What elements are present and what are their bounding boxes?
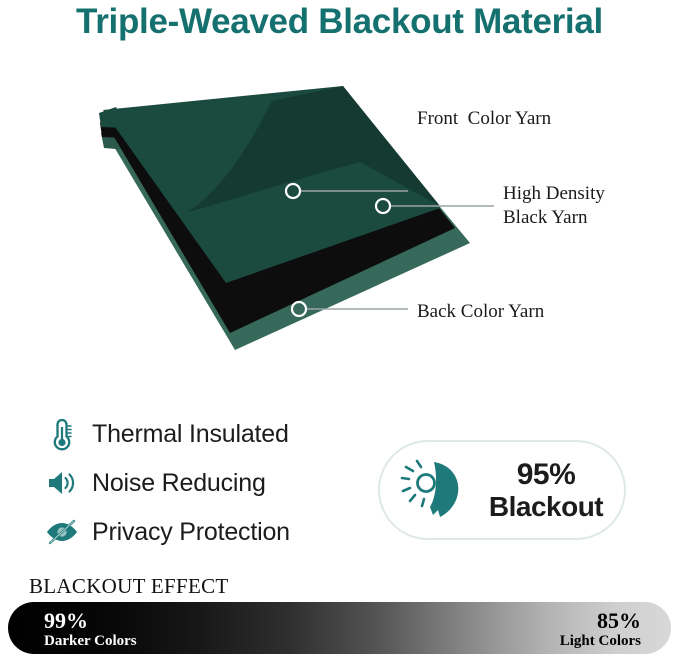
blackout-percent: 95% — [517, 458, 576, 491]
feature-item-thermal-insulated: Thermal Insulated — [44, 412, 374, 456]
speaker-sound-icon — [44, 465, 80, 501]
blackout-effect-heading: BLACKOUT EFFECT — [29, 574, 229, 599]
blackout-word: Blackout — [489, 491, 603, 522]
thermometer-icon — [44, 416, 80, 452]
light-colors-percent: 85% — [560, 609, 641, 633]
blackout-effect-gradient-bar: 99% Darker Colors 85% Light Colors — [8, 602, 671, 654]
light-colors-caption: Light Colors — [560, 633, 641, 649]
darker-colors-percent: 99% — [44, 609, 137, 633]
feature-list: Thermal Insulated Noise Reducing Privacy… — [44, 412, 374, 559]
darker-colors-caption: Darker Colors — [44, 633, 137, 649]
sun-blocked-by-curtain-icon — [398, 455, 476, 525]
blackout-badge-text: 95% Blackout — [476, 458, 624, 523]
feature-label-noise-reducing: Noise Reducing — [92, 469, 266, 498]
feature-item-privacy-protection: Privacy Protection — [44, 510, 374, 554]
feature-label-thermal-insulated: Thermal Insulated — [92, 420, 289, 449]
eye-slash-icon — [44, 514, 80, 550]
gradient-bar-right-stat: 85% Light Colors — [560, 609, 641, 649]
feature-label-privacy-protection: Privacy Protection — [92, 518, 290, 547]
gradient-bar-left-stat: 99% Darker Colors — [44, 609, 137, 649]
page-title: Triple-Weaved Blackout Material — [0, 2, 679, 42]
callout-label-back-color-yarn: Back Color Yarn — [417, 300, 544, 324]
blackout-badge: 95% Blackout — [378, 440, 626, 540]
callout-label-high-density-black-yarn: High Density Black Yarn — [503, 182, 605, 230]
callout-label-front-color-yarn: Front Color Yarn — [417, 107, 551, 131]
feature-item-noise-reducing: Noise Reducing — [44, 461, 374, 505]
